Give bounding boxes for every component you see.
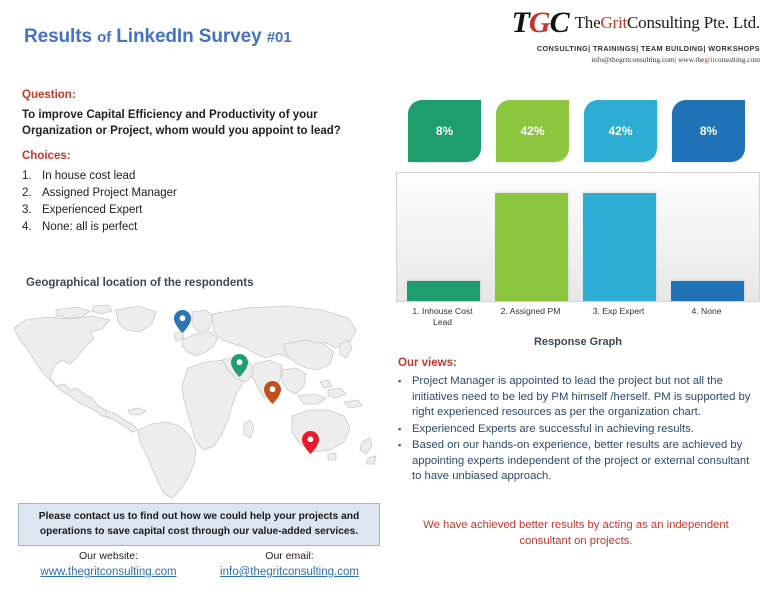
map-heading: Geographical location of the respondents	[26, 277, 253, 289]
view-text: Experienced Experts are successful in ac…	[412, 422, 694, 438]
question-text: To improve Capital Efficiency and Produc…	[22, 107, 367, 139]
title-main: Results	[24, 26, 92, 47]
logo-contact-tail: consulting.com	[715, 55, 760, 64]
logo-word-grit: Grit	[600, 13, 627, 32]
list-item: ▪ Experienced Experts are successful in …	[398, 422, 754, 438]
bar-column	[495, 173, 568, 301]
views-label: Our views:	[398, 357, 457, 369]
x-axis-label: 1. Inhouse Cost Lead	[406, 306, 479, 328]
chart-x-axis-labels: 1. Inhouse Cost Lead 2. Assigned PM 3. E…	[396, 306, 760, 328]
contact-links: Our website: www.thegritconsulting.com O…	[18, 549, 380, 581]
bar-column	[407, 173, 480, 301]
logo-word-consulting: Consulting Pte. Ltd.	[627, 13, 760, 32]
email-link[interactable]: info@thegritconsulting.com	[199, 564, 380, 581]
choices-list: 1. In house cost lead 2. Assigned Projec…	[22, 168, 352, 236]
pin-northern-europe[interactable]	[174, 310, 191, 333]
views-closing-statement: We have achieved better results by actin…	[398, 518, 754, 549]
percentage-tile: 42%	[496, 100, 569, 162]
tile-value: 8%	[700, 124, 717, 138]
logo-letter-g: G	[529, 6, 550, 39]
choice-index: 2.	[22, 185, 36, 202]
contact-callout: Please contact us to find out how we cou…	[18, 503, 380, 546]
question-label: Question:	[22, 89, 76, 101]
pin-australia[interactable]	[302, 431, 319, 454]
choice-label: None: all is perfect	[42, 219, 137, 236]
response-chart: 8% 42% 42% 8%	[396, 100, 760, 350]
choice-label: Assigned Project Manager	[42, 185, 177, 202]
chart-bars	[397, 173, 759, 301]
chart-plot-area	[396, 172, 760, 302]
email-column: Our email: info@thegritconsulting.com	[199, 549, 380, 581]
list-item: ▪ Based on our hands-on experience, bett…	[398, 438, 754, 485]
choice-label: In house cost lead	[42, 168, 135, 185]
choice-index: 4.	[22, 219, 36, 236]
view-text: Based on our hands-on experience, better…	[412, 438, 754, 485]
map-pin-icon	[264, 381, 281, 404]
logo-contact-line: info@thegritconsulting.com| www.thegritc…	[510, 55, 760, 64]
page-title: Results of LinkedIn Survey #01	[24, 26, 291, 48]
tile-value: 42%	[608, 124, 632, 138]
company-logo: TGC TheGritConsulting Pte. Ltd. CONSULTI…	[510, 8, 760, 64]
bullet-icon: ▪	[398, 438, 404, 485]
bar-column	[583, 173, 656, 301]
title-number: #01	[267, 29, 292, 46]
slide-root: Results of LinkedIn Survey #01 TGC TheGr…	[0, 0, 768, 596]
bar-none	[671, 281, 744, 301]
website-caption: Our website:	[18, 549, 199, 564]
website-link[interactable]: www.thegritconsulting.com	[18, 564, 199, 581]
choice-index: 1.	[22, 168, 36, 185]
pin-southeast-asia[interactable]	[264, 381, 281, 404]
list-item: 4. None: all is perfect	[22, 219, 352, 236]
bullet-icon: ▪	[398, 374, 404, 421]
view-text: Project Manager is appointed to lead the…	[412, 374, 754, 421]
choice-index: 3.	[22, 202, 36, 219]
choice-label: Experienced Expert	[42, 202, 142, 219]
x-axis-label: 2. Assigned PM	[494, 306, 567, 328]
logo-contact-grit: grit	[704, 55, 714, 64]
map-pin-icon	[174, 310, 191, 333]
map-pin-icon	[302, 431, 319, 454]
x-axis-label: 4. None	[670, 306, 743, 328]
bullet-icon: ▪	[398, 422, 404, 438]
views-list: ▪ Project Manager is appointed to lead t…	[398, 374, 754, 486]
x-axis-label: 3. Exp Expert	[582, 306, 655, 328]
bar-assigned-pm	[495, 193, 568, 301]
chart-title: Response Graph	[396, 336, 760, 348]
logo-letter-t: T	[512, 6, 529, 39]
website-column: Our website: www.thegritconsulting.com	[18, 549, 199, 581]
percentage-tiles: 8% 42% 42% 8%	[396, 100, 760, 162]
tile-value: 42%	[520, 124, 544, 138]
pin-india[interactable]	[231, 354, 248, 377]
list-item: 3. Experienced Expert	[22, 202, 352, 219]
world-map	[6, 298, 386, 503]
email-caption: Our email:	[199, 549, 380, 564]
title-of: of	[97, 29, 111, 46]
tile-value: 8%	[436, 124, 453, 138]
list-item: 1. In house cost lead	[22, 168, 352, 185]
logo-services-tagline: CONSULTING| TRAININGS| TEAM BUILDING| WO…	[510, 44, 760, 53]
logo-wordmark: TheGritConsulting Pte. Ltd.	[575, 13, 760, 33]
list-item: ▪ Project Manager is appointed to lead t…	[398, 374, 754, 421]
bar-inhouse-cost-lead	[407, 281, 480, 301]
title-mid: LinkedIn Survey	[116, 26, 261, 47]
logo-monogram: TGC	[512, 8, 569, 38]
bar-exp-expert	[583, 193, 656, 301]
logo-letter-c: C	[550, 6, 569, 39]
percentage-tile: 42%	[584, 100, 657, 162]
percentage-tile: 8%	[408, 100, 481, 162]
logo-row: TGC TheGritConsulting Pte. Ltd.	[510, 8, 760, 38]
choices-label: Choices:	[22, 150, 71, 162]
logo-contact-email: info@thegritconsulting.com| www.the	[591, 55, 704, 64]
percentage-tile: 8%	[672, 100, 745, 162]
map-pin-icon	[231, 354, 248, 377]
world-map-svg	[6, 298, 386, 503]
bar-column	[671, 173, 744, 301]
list-item: 2. Assigned Project Manager	[22, 185, 352, 202]
logo-word-the: The	[575, 13, 601, 32]
